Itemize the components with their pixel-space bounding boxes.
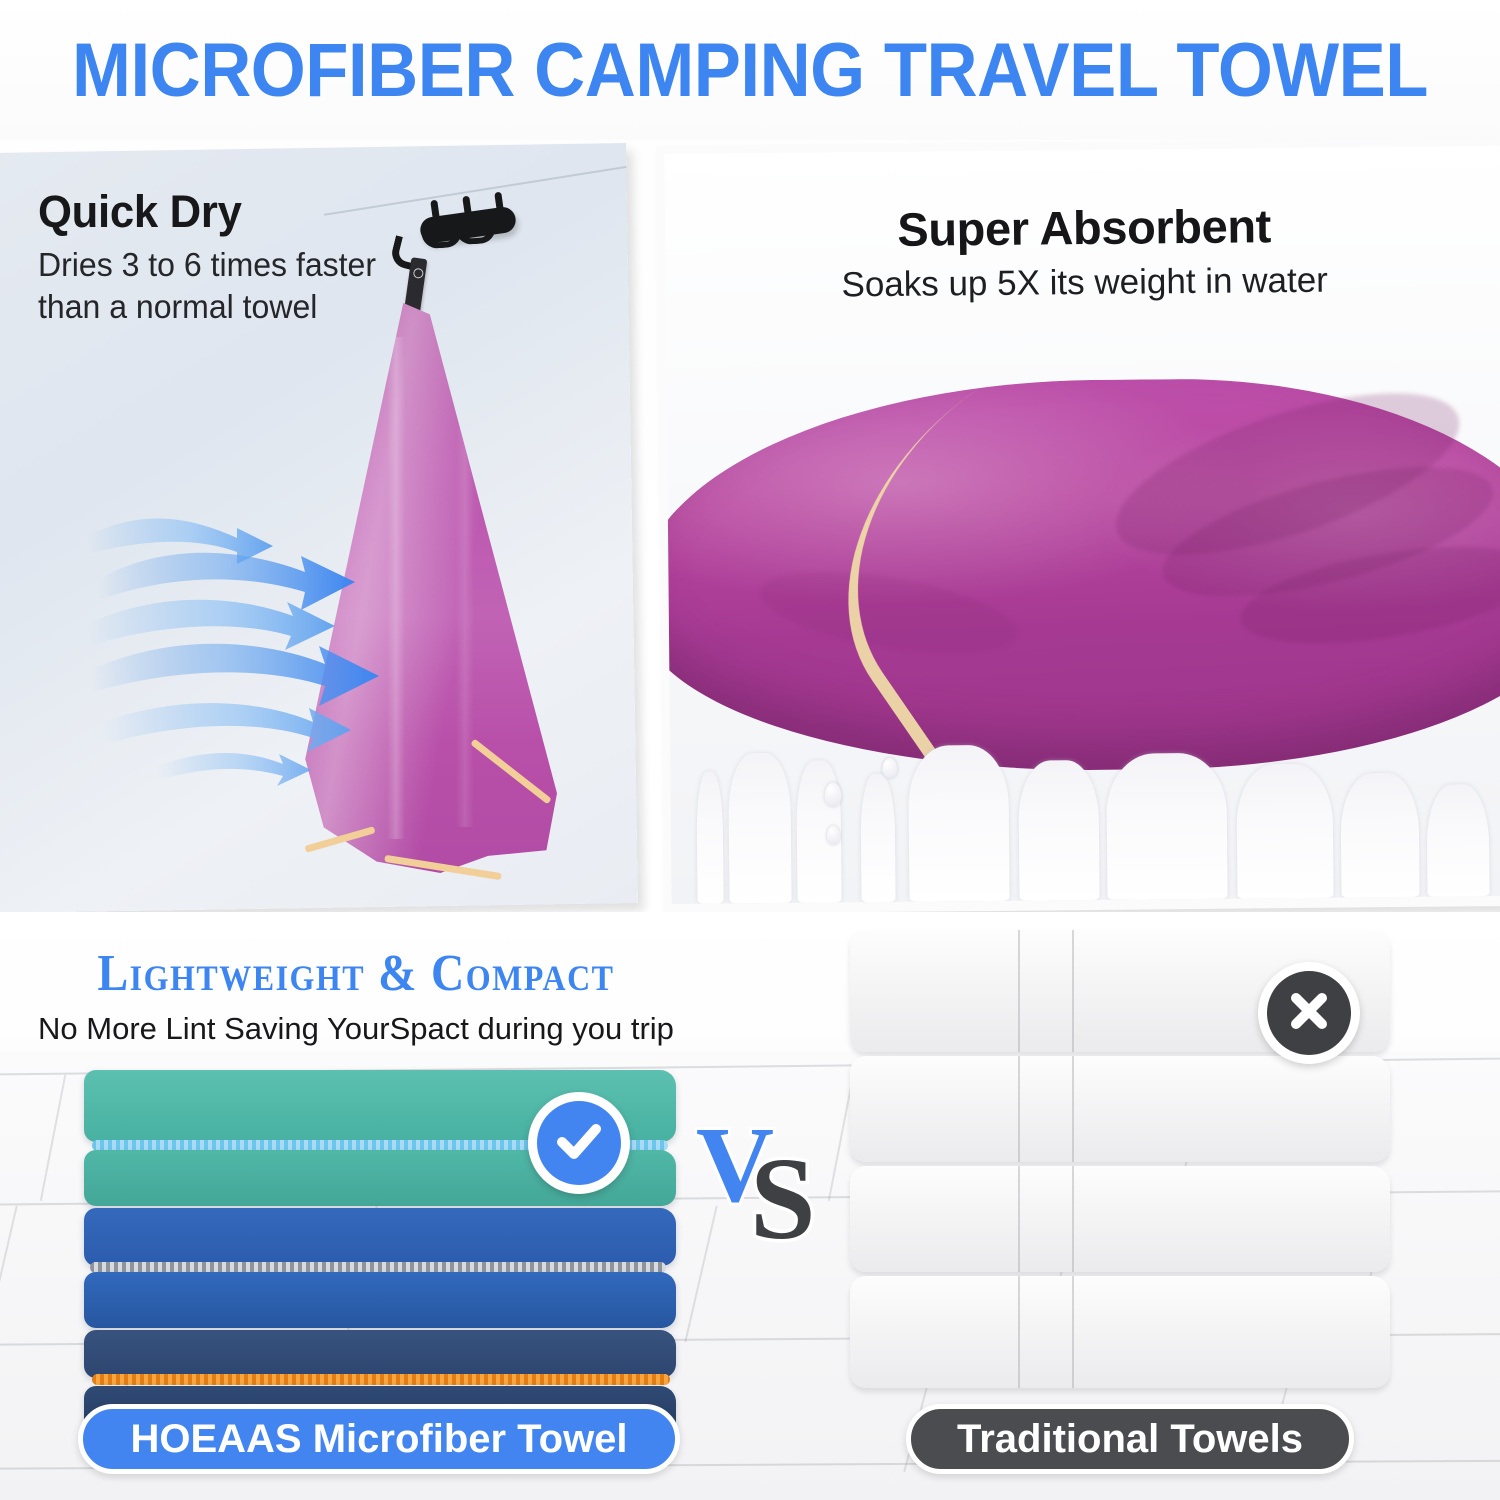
water-drip <box>908 745 1009 902</box>
water-drip <box>1426 784 1489 897</box>
super-absorbent-title: Super Absorbent <box>665 196 1500 259</box>
water-drip <box>860 774 895 902</box>
water-drip <box>728 753 791 904</box>
water-droplet <box>827 825 840 844</box>
white-towel-4 <box>850 1276 1390 1388</box>
page-header: MICROFIBER CAMPING TRAVEL TOWEL <box>0 0 1500 140</box>
versus-marker: V S <box>694 1112 834 1262</box>
super-absorbent-subtitle: Soaks up 5X its weight in water <box>665 259 1500 307</box>
water-drip <box>1106 753 1227 900</box>
water-drip <box>696 772 723 904</box>
water-drip <box>1018 760 1099 901</box>
water-drip <box>1236 764 1333 899</box>
towel-navy-top <box>84 1330 676 1378</box>
traditional-towel-label: Traditional Towels <box>906 1404 1354 1474</box>
towel-royal-top <box>84 1208 676 1266</box>
panel-quick-dry: Quick Dry Dries 3 to 6 times faster than… <box>0 143 638 913</box>
check-badge <box>528 1092 630 1194</box>
water-droplet <box>824 782 841 806</box>
water-drip <box>1340 773 1419 898</box>
microfiber-towel-label: HOEAAS Microfiber Towel <box>78 1404 680 1474</box>
panel-super-absorbent: Super Absorbent Soaks up 5X its weight i… <box>656 138 1500 914</box>
compare-title: Lightweight & Compact <box>26 943 686 1002</box>
cross-badge <box>1258 962 1360 1064</box>
compare-subtitle: No More Lint Saving YourSpact during you… <box>26 1011 686 1047</box>
water-droplet <box>882 758 897 778</box>
check-icon <box>550 1112 608 1175</box>
white-towel-2 <box>850 1056 1390 1162</box>
infographic-page: MICROFIBER CAMPING TRAVEL TOWEL Quick Dr… <box>0 0 1500 1500</box>
towel-navy-trim <box>92 1374 670 1385</box>
versus-s-letter: S <box>750 1140 816 1258</box>
compare-text-block: Lightweight & Compact No More Lint Savin… <box>26 946 686 1047</box>
airflow-arrows-icon <box>87 498 447 798</box>
towel-royal-body <box>84 1272 676 1328</box>
page-title: MICROFIBER CAMPING TRAVEL TOWEL <box>72 27 1428 114</box>
x-icon <box>1282 984 1336 1043</box>
quick-dry-subtitle-line2: than a normal towel <box>38 286 445 328</box>
quick-dry-title: Quick Dry <box>38 186 445 238</box>
wall-hook-rack-icon <box>406 194 526 258</box>
white-towel-3 <box>850 1166 1390 1272</box>
quick-dry-subtitle-line1: Dries 3 to 6 times faster <box>38 244 445 286</box>
super-absorbent-text-block: Super Absorbent Soaks up 5X its weight i… <box>665 196 1500 307</box>
